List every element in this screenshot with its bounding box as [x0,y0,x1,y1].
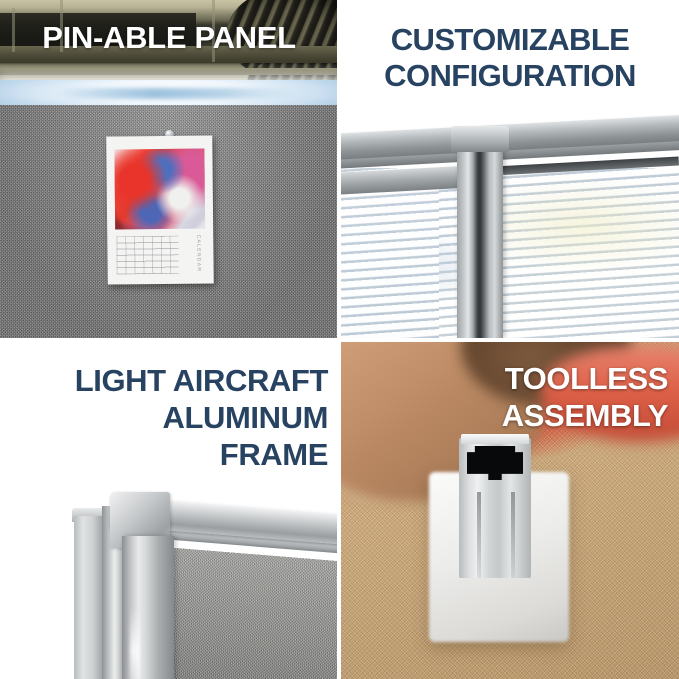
aluminum-post-cap [451,126,509,152]
caption-pin-able-panel: PIN-ABLE PANEL [14,22,324,54]
horizontal-divider [0,338,679,342]
calendar-side-label: CALENDAR [191,235,204,279]
fluorescent-light-core [27,88,310,99]
glass-pane-left [341,176,439,338]
pinned-calendar: CALENDAR [106,135,214,284]
feature-panel-aluminum-frame: LIGHT AIRCRAFT ALUMINUM FRAME [0,342,337,679]
feature-panel-toolless-assembly: TOOLLESS ASSEMBLY [341,342,679,679]
calendar-artwork [114,149,205,230]
glass-wall-assembly [341,152,679,338]
product-feature-infographic: CALENDAR PIN-ABLE PANEL CUSTOMIZABLE CON… [0,0,679,679]
frame-corner-assembly [74,486,337,679]
caption-customizable-configuration: CUSTOMIZABLE CONFIGURATION [355,22,665,94]
feature-panel-pin-able: CALENDAR PIN-ABLE PANEL [0,0,337,338]
extrusion-top-face [461,434,529,444]
post-highlight [130,606,140,679]
ceiling-beam-lower [0,68,337,75]
aluminum-vertical-post [457,130,503,338]
rear-aluminum-post [74,516,104,679]
caption-toolless-assembly: TOOLLESS ASSEMBLY [361,360,668,434]
calendar-date-grid [116,236,178,275]
caption-light-aircraft-aluminum-frame: LIGHT AIRCRAFT ALUMINUM FRAME [10,362,328,474]
extrusion-groove-left [477,492,481,578]
extrusion-groove-right [511,492,515,578]
gray-fabric-panel [162,548,337,679]
feature-panel-customizable-configuration: CUSTOMIZABLE CONFIGURATION [341,0,679,338]
